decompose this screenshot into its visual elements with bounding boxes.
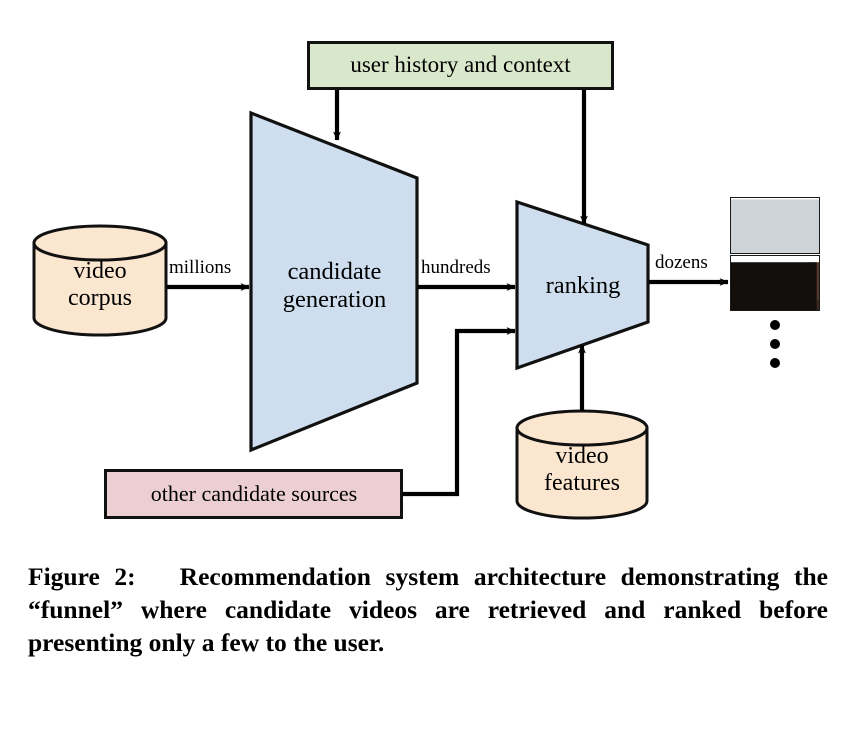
node-ranking: [517, 202, 648, 368]
edge-label-dozens: dozens: [655, 253, 708, 272]
edge-label-hundreds: hundreds: [421, 258, 491, 277]
node-other-candidate-sources: [106, 471, 402, 518]
recommendation-architecture-diagram: user history and context video corpus ca…: [0, 0, 856, 545]
edge-other-sources-to-ranking: [402, 331, 515, 494]
node-video-corpus: [34, 226, 166, 335]
results-ellipsis: [770, 320, 780, 368]
figure-number: Figure 2:: [28, 562, 136, 591]
node-candidate-generation: [251, 113, 417, 450]
result-thumbnail-hand-holding-phone-and-coffee-cup[interactable]: [730, 197, 820, 254]
figure-page: user history and context video corpus ca…: [0, 0, 856, 740]
node-video-features: [517, 411, 647, 518]
figure-caption: Figure 2: Recommendation system architec…: [28, 560, 828, 659]
edge-label-millions: millions: [169, 258, 231, 277]
node-user-history-and-context: [309, 43, 613, 89]
result-thumbnail-vevo-music-video[interactable]: vevo HD: [730, 255, 820, 311]
